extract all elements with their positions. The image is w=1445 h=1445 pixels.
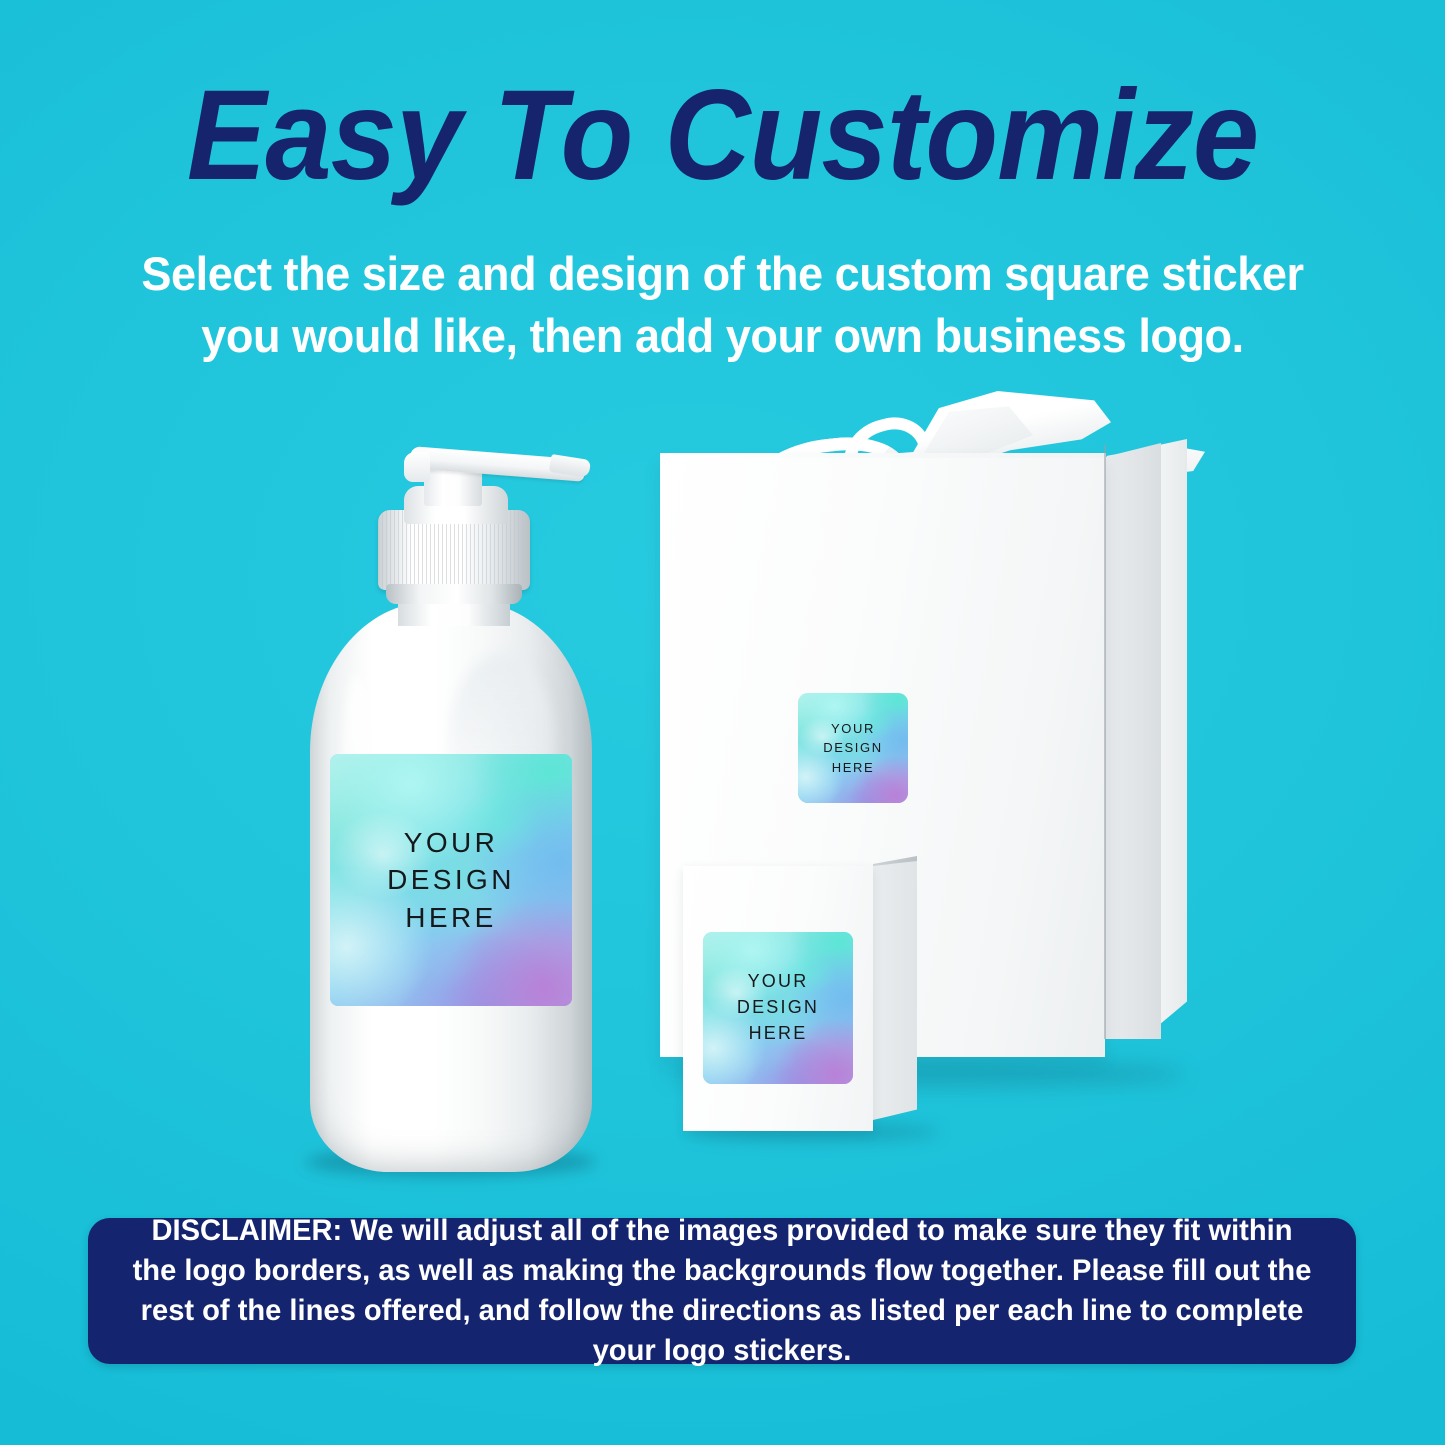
sticker-line-3: HERE bbox=[832, 758, 875, 778]
disclaimer-text: DISCLAIMER: We will adjust all of the im… bbox=[107, 1211, 1337, 1371]
sticker-line-1: YOUR bbox=[831, 719, 875, 739]
pump-arm-hook bbox=[404, 452, 430, 482]
gift-box-back-panel bbox=[1159, 439, 1187, 1025]
sticker-line-2: DESIGN bbox=[387, 861, 515, 899]
small-product-box: YOUR DESIGN HERE bbox=[683, 858, 948, 1133]
pump-collar-base bbox=[386, 584, 522, 604]
sticker-text-block: YOUR DESIGN HERE bbox=[330, 754, 572, 1006]
small-box-side-face bbox=[873, 858, 917, 1120]
gift-box-seam bbox=[1104, 445, 1106, 1039]
bottle-sticker-label: YOUR DESIGN HERE bbox=[330, 754, 572, 1006]
sticker-line-3: HERE bbox=[405, 899, 496, 937]
sticker-line-2: DESIGN bbox=[823, 738, 882, 758]
page-subtitle: Select the size and design of the custom… bbox=[120, 243, 1325, 367]
gift-box-side-face bbox=[1105, 443, 1161, 1039]
sticker-line-1: YOUR bbox=[404, 824, 499, 862]
sticker-text-block: YOUR DESIGN HERE bbox=[703, 932, 853, 1084]
page-title: Easy To Customize bbox=[51, 72, 1395, 200]
disclaimer-label: DISCLAIMER: bbox=[151, 1214, 342, 1247]
small-box-sticker: YOUR DESIGN HERE bbox=[703, 932, 853, 1084]
gift-box-top-edge bbox=[660, 453, 1106, 458]
sticker-line-1: YOUR bbox=[748, 969, 809, 995]
sticker-line-3: HERE bbox=[749, 1021, 808, 1047]
gift-box-sticker: YOUR DESIGN HERE bbox=[798, 693, 908, 803]
pump-lotion-bottle: YOUR DESIGN HERE bbox=[300, 424, 600, 1179]
sticker-line-2: DESIGN bbox=[737, 995, 819, 1021]
promo-graphic: Easy To Customize Select the size and de… bbox=[0, 0, 1445, 1445]
disclaimer-banner: DISCLAIMER: We will adjust all of the im… bbox=[88, 1218, 1356, 1364]
sticker-text-block: YOUR DESIGN HERE bbox=[798, 693, 908, 803]
